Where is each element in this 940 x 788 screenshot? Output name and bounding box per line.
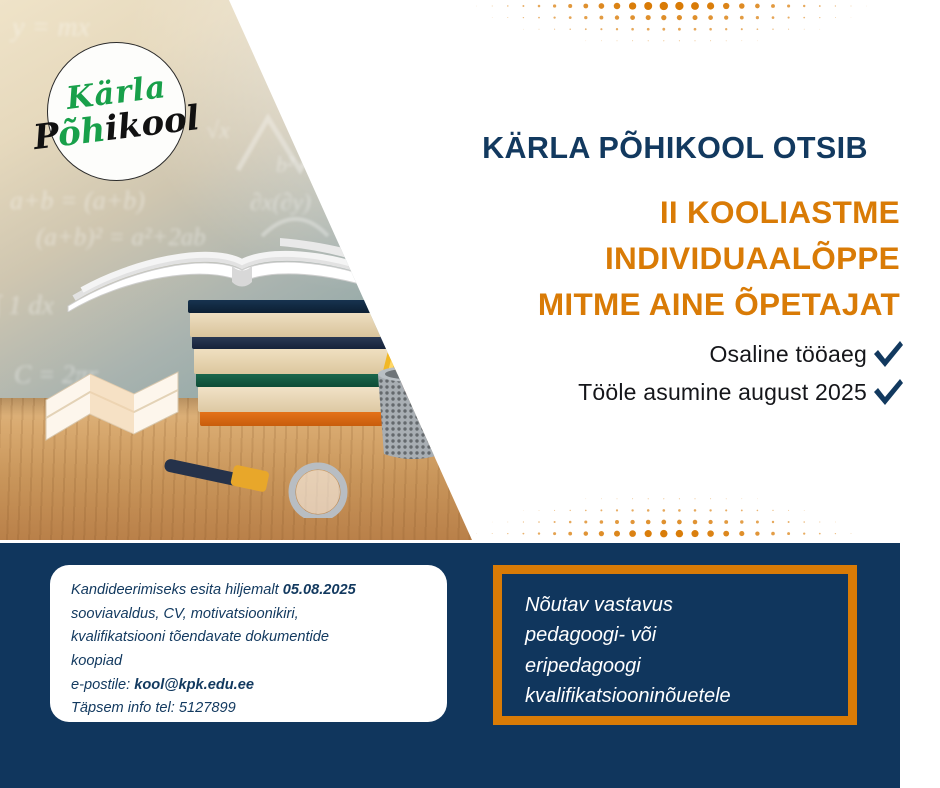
school-logo: Kärla Põhikool (47, 42, 186, 181)
highlight-label: Osaline tööaeg (709, 341, 867, 368)
main-heading-line-3: MITME AINE ÕPETAJAT (445, 282, 900, 328)
apply-email-prefix: e-postile: (71, 677, 134, 693)
apply-email[interactable]: kool@kpk.edu.ee (134, 677, 254, 693)
list-item: Tööle asumine august 2025 (450, 376, 905, 408)
halftone-dots-top (455, 0, 940, 130)
requirement-line-3: eripedagoogi (525, 655, 641, 677)
apply-line-4: koopiad (71, 653, 122, 669)
check-icon (871, 376, 905, 408)
halftone-dots-bottom (455, 400, 940, 543)
list-item: Osaline tööaeg (450, 338, 905, 370)
eyebrow-heading: KÄRLA PÕHIKOOL OTSIB (455, 131, 895, 166)
requirement-line-1: Nõutav vastavus (525, 594, 673, 616)
main-heading: II KOOLIASTME INDIVIDUAALÕPPE MITME AINE… (445, 190, 900, 328)
folded-notepad (38, 360, 183, 450)
apply-deadline: 05.08.2025 (283, 582, 356, 598)
requirement-line-2: pedagoogi- või (525, 624, 656, 646)
highlights-list: Osaline tööaeg Tööle asumine august 2025 (450, 338, 905, 414)
application-info-text: Kandideerimiseks esita hiljemalt 05.08.2… (71, 579, 435, 721)
magnifying-glass (160, 448, 370, 518)
apply-phone: Täpsem info tel: 5127899 (71, 700, 236, 716)
apply-line-1-prefix: Kandideerimiseks esita hiljemalt (71, 582, 283, 598)
apply-line-2: sooviavaldus, CV, motivatsioonikiri, (71, 606, 299, 622)
highlight-label: Tööle asumine august 2025 (578, 379, 867, 406)
apply-line-3: kvalifikatsiooni tõendavate dokumentide (71, 629, 329, 645)
job-advert-poster: a+b = (a+b) (a+b)² = a²+2ab ∂x(∂y) ∫ 1 d… (0, 0, 940, 788)
main-heading-line-2: INDIVIDUAALÕPPE (445, 236, 900, 282)
main-heading-line-1: II KOOLIASTME (445, 190, 900, 236)
application-info-card: Kandideerimiseks esita hiljemalt 05.08.2… (50, 565, 447, 722)
requirement-text: Nõutav vastavus pedagoogi- või eripedago… (525, 590, 838, 712)
requirement-box: Nõutav vastavus pedagoogi- või eripedago… (493, 565, 857, 725)
check-icon (871, 338, 905, 370)
requirement-line-4: kvalifikatsiooninõuetele (525, 685, 731, 707)
